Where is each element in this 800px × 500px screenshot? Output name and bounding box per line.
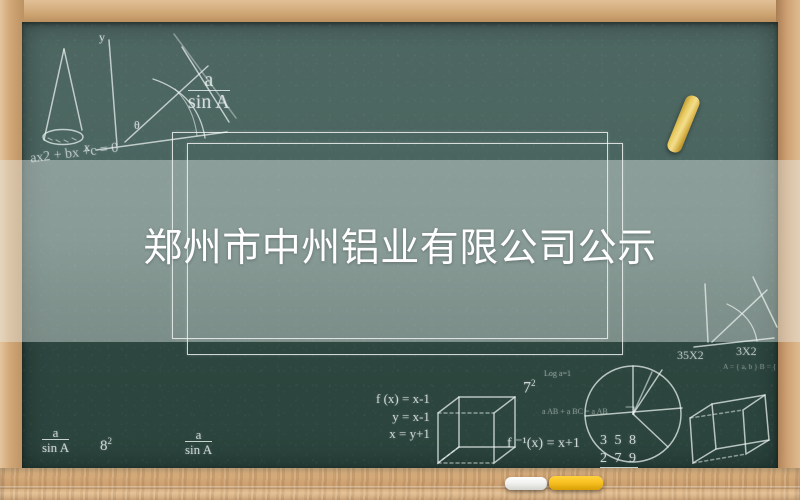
equation-line-2: y = x-1	[376, 408, 430, 426]
power-eight-exponent: 2	[108, 436, 113, 446]
angle-label-theta: θ	[134, 118, 140, 133]
digit-column: 3 5 8 2 7 9 6 3 7	[600, 432, 638, 468]
axis-label-y: y	[99, 30, 105, 45]
frame-top-edge	[0, 0, 800, 24]
yellow-chalk-tray-icon	[549, 476, 603, 490]
fraction-denominator: sin A	[42, 439, 69, 454]
function-equations: f (x) = x-1 y = x-1 x = y+1	[376, 390, 430, 443]
fraction-numerator: a	[185, 428, 212, 441]
fraction-denominator: sin A	[185, 441, 212, 456]
label-35x2: 35X2	[677, 348, 704, 363]
log-label: Log a=1	[544, 369, 571, 378]
cube-left-drawing	[438, 397, 515, 463]
digits-row-2: 2 7 9	[600, 450, 638, 468]
digits-row-1: 3 5 8	[600, 432, 638, 450]
white-chalk-icon	[505, 477, 547, 490]
angle-right-drawing	[694, 277, 777, 347]
page-title: 郑州市中州铝业有限公司公示	[0, 226, 800, 271]
equation-line-3: x = y+1	[376, 425, 430, 443]
fraction-numerator: a	[188, 70, 230, 90]
inverse-function: f ⁻¹(x) = x+1	[507, 435, 580, 452]
fraction-numerator: a	[42, 426, 69, 439]
blackboard-banner-image: a sin A y x θ ax2 + bx +c = 0 35X2 3X2 f…	[0, 0, 800, 500]
power-seven-base: 7	[523, 379, 531, 396]
fraction-denominator: sin A	[188, 90, 230, 112]
cone-drawing	[43, 49, 83, 145]
cube-right-drawing	[690, 395, 769, 463]
power-eight: 82	[100, 436, 112, 455]
set-expression: A = { a, b } B = { x, y } A ∪ B	[723, 362, 778, 371]
power-eight-base: 8	[100, 438, 108, 454]
fraction-a-sin-bl-2: a sin A	[185, 428, 212, 457]
fraction-a-sin-top: a sin A	[188, 70, 230, 113]
chalk-tray-lip	[0, 486, 800, 489]
equation-line-1: f (x) = x-1	[376, 390, 430, 408]
fraction-a-sin-bl-1: a sin A	[42, 426, 69, 455]
chalk-tray	[0, 468, 800, 500]
label-3x2: 3X2	[736, 344, 757, 359]
power-seven: 72	[523, 378, 536, 397]
faint-expression: a AB + a BC = a AB	[542, 407, 608, 416]
power-seven-exponent: 2	[531, 378, 536, 388]
